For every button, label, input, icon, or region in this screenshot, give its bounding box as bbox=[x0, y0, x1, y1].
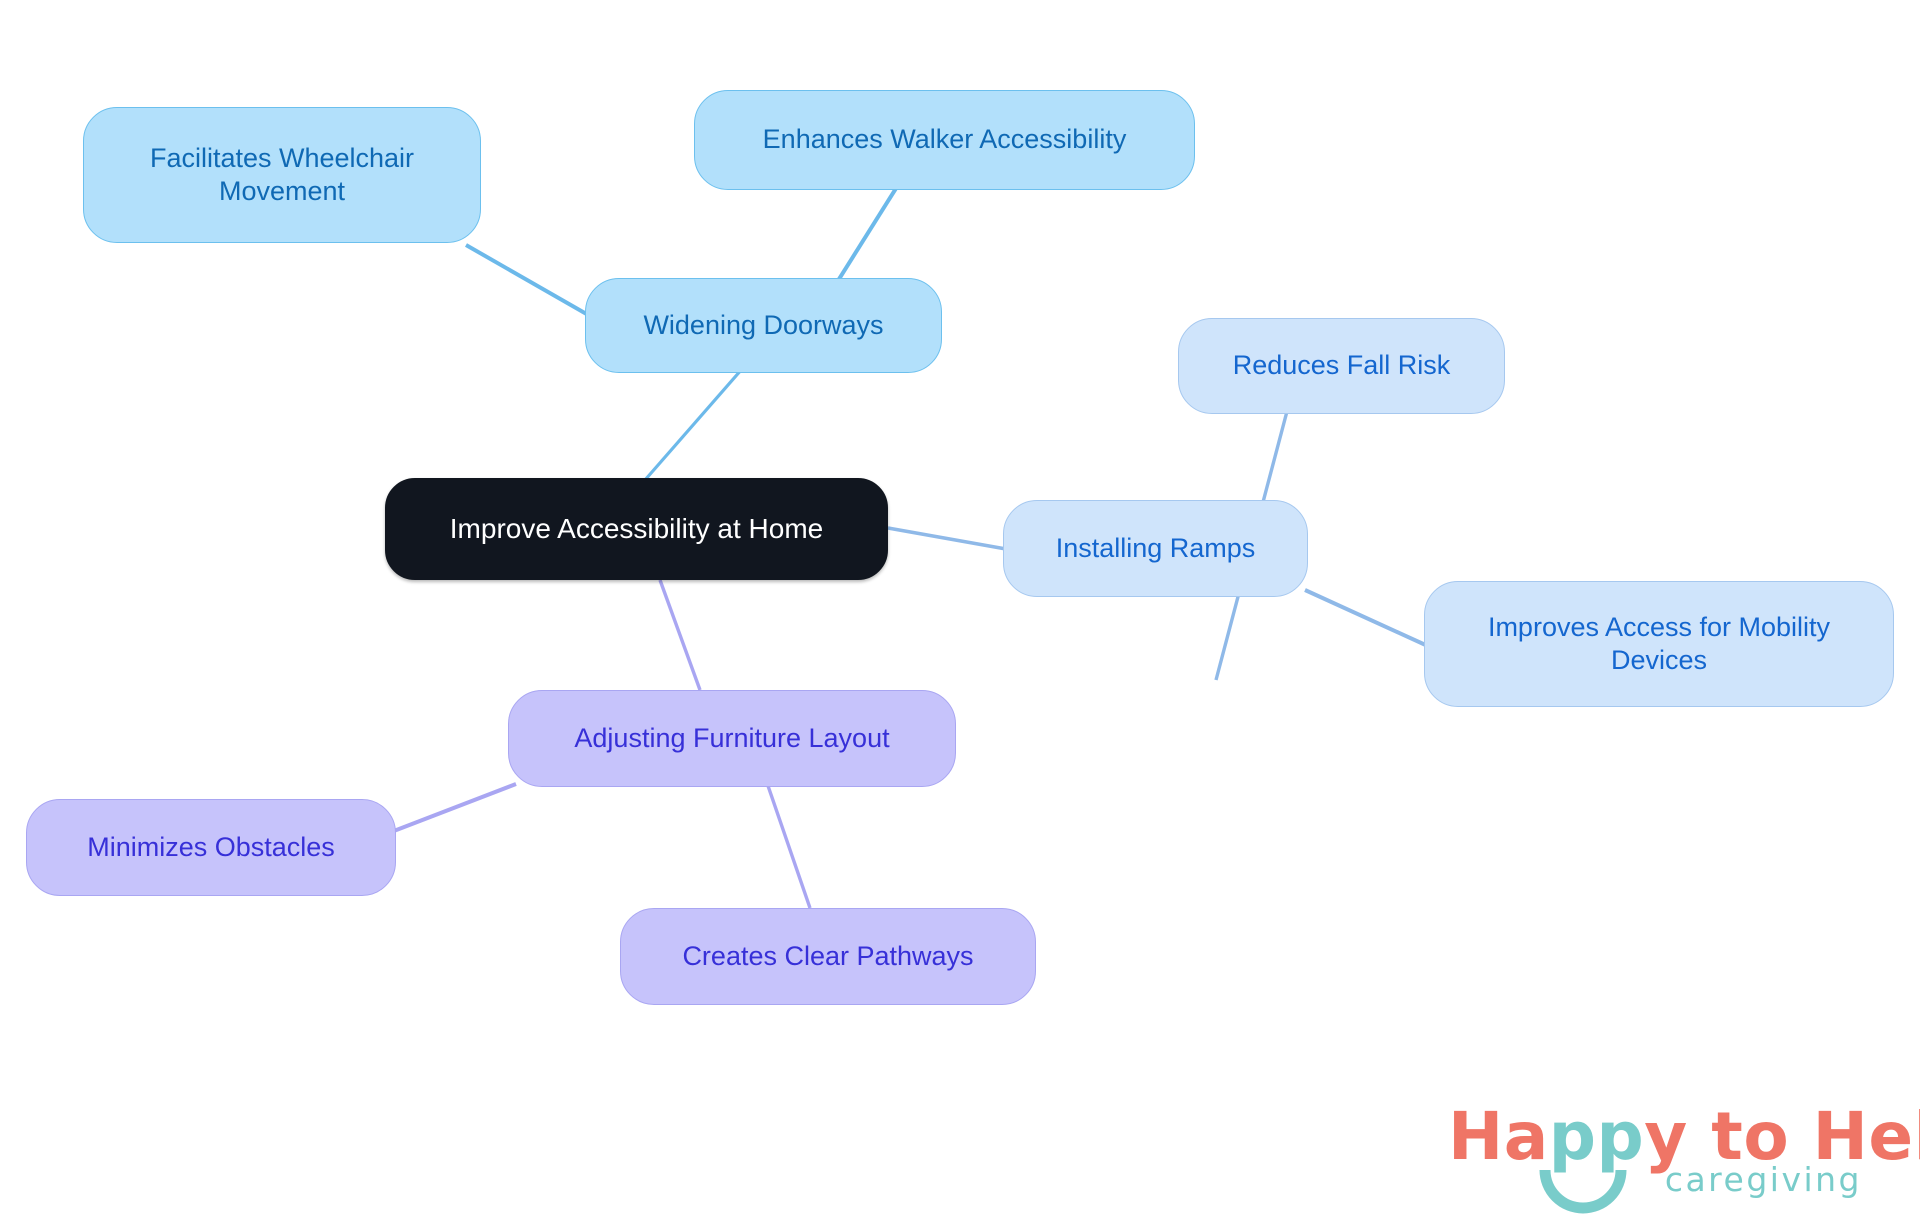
edge-root-installing-ramps bbox=[888, 528, 1006, 549]
logo-pp: pp bbox=[1549, 1098, 1645, 1175]
edge-installing-ramps-improves-access-mobility-devices bbox=[1305, 590, 1430, 647]
edge-root-widening-doorways bbox=[645, 369, 742, 480]
logo-tagline: caregiving bbox=[1665, 1160, 1862, 1199]
smile-icon bbox=[1537, 1168, 1629, 1222]
edge-widening-doorways-facilitates-wheelchair-movement bbox=[466, 245, 590, 316]
node-widening-doorways[interactable]: Widening Doorways bbox=[585, 278, 942, 373]
brand-logo: Happy to Help caregiving bbox=[1448, 1098, 1868, 1202]
mindmap-canvas: Facilitates Wheelchair Movement Enhances… bbox=[0, 0, 1920, 1215]
node-root-improve-accessibility-at-home[interactable]: Improve Accessibility at Home bbox=[385, 478, 888, 580]
node-installing-ramps[interactable]: Installing Ramps bbox=[1003, 500, 1308, 597]
logo-ha: Ha bbox=[1448, 1098, 1549, 1175]
node-adjusting-furniture-layout[interactable]: Adjusting Furniture Layout bbox=[508, 690, 956, 787]
node-creates-clear-pathways[interactable]: Creates Clear Pathways bbox=[620, 908, 1036, 1005]
node-minimizes-obstacles[interactable]: Minimizes Obstacles bbox=[26, 799, 396, 896]
node-facilitates-wheelchair-movement[interactable]: Facilitates Wheelchair Movement bbox=[83, 107, 481, 243]
node-improves-access-for-mobility-devices[interactable]: Improves Access for Mobility Devices bbox=[1424, 581, 1894, 707]
node-reduces-fall-risk[interactable]: Reduces Fall Risk bbox=[1178, 318, 1505, 414]
edge-adjusting-furniture-layout-creates-clear-pathways bbox=[766, 780, 810, 908]
edge-adjusting-furniture-layout-minimizes-obstacles bbox=[386, 784, 516, 834]
edge-root-adjusting-furniture-layout bbox=[660, 580, 700, 690]
node-enhances-walker-accessibility[interactable]: Enhances Walker Accessibility bbox=[694, 90, 1195, 190]
